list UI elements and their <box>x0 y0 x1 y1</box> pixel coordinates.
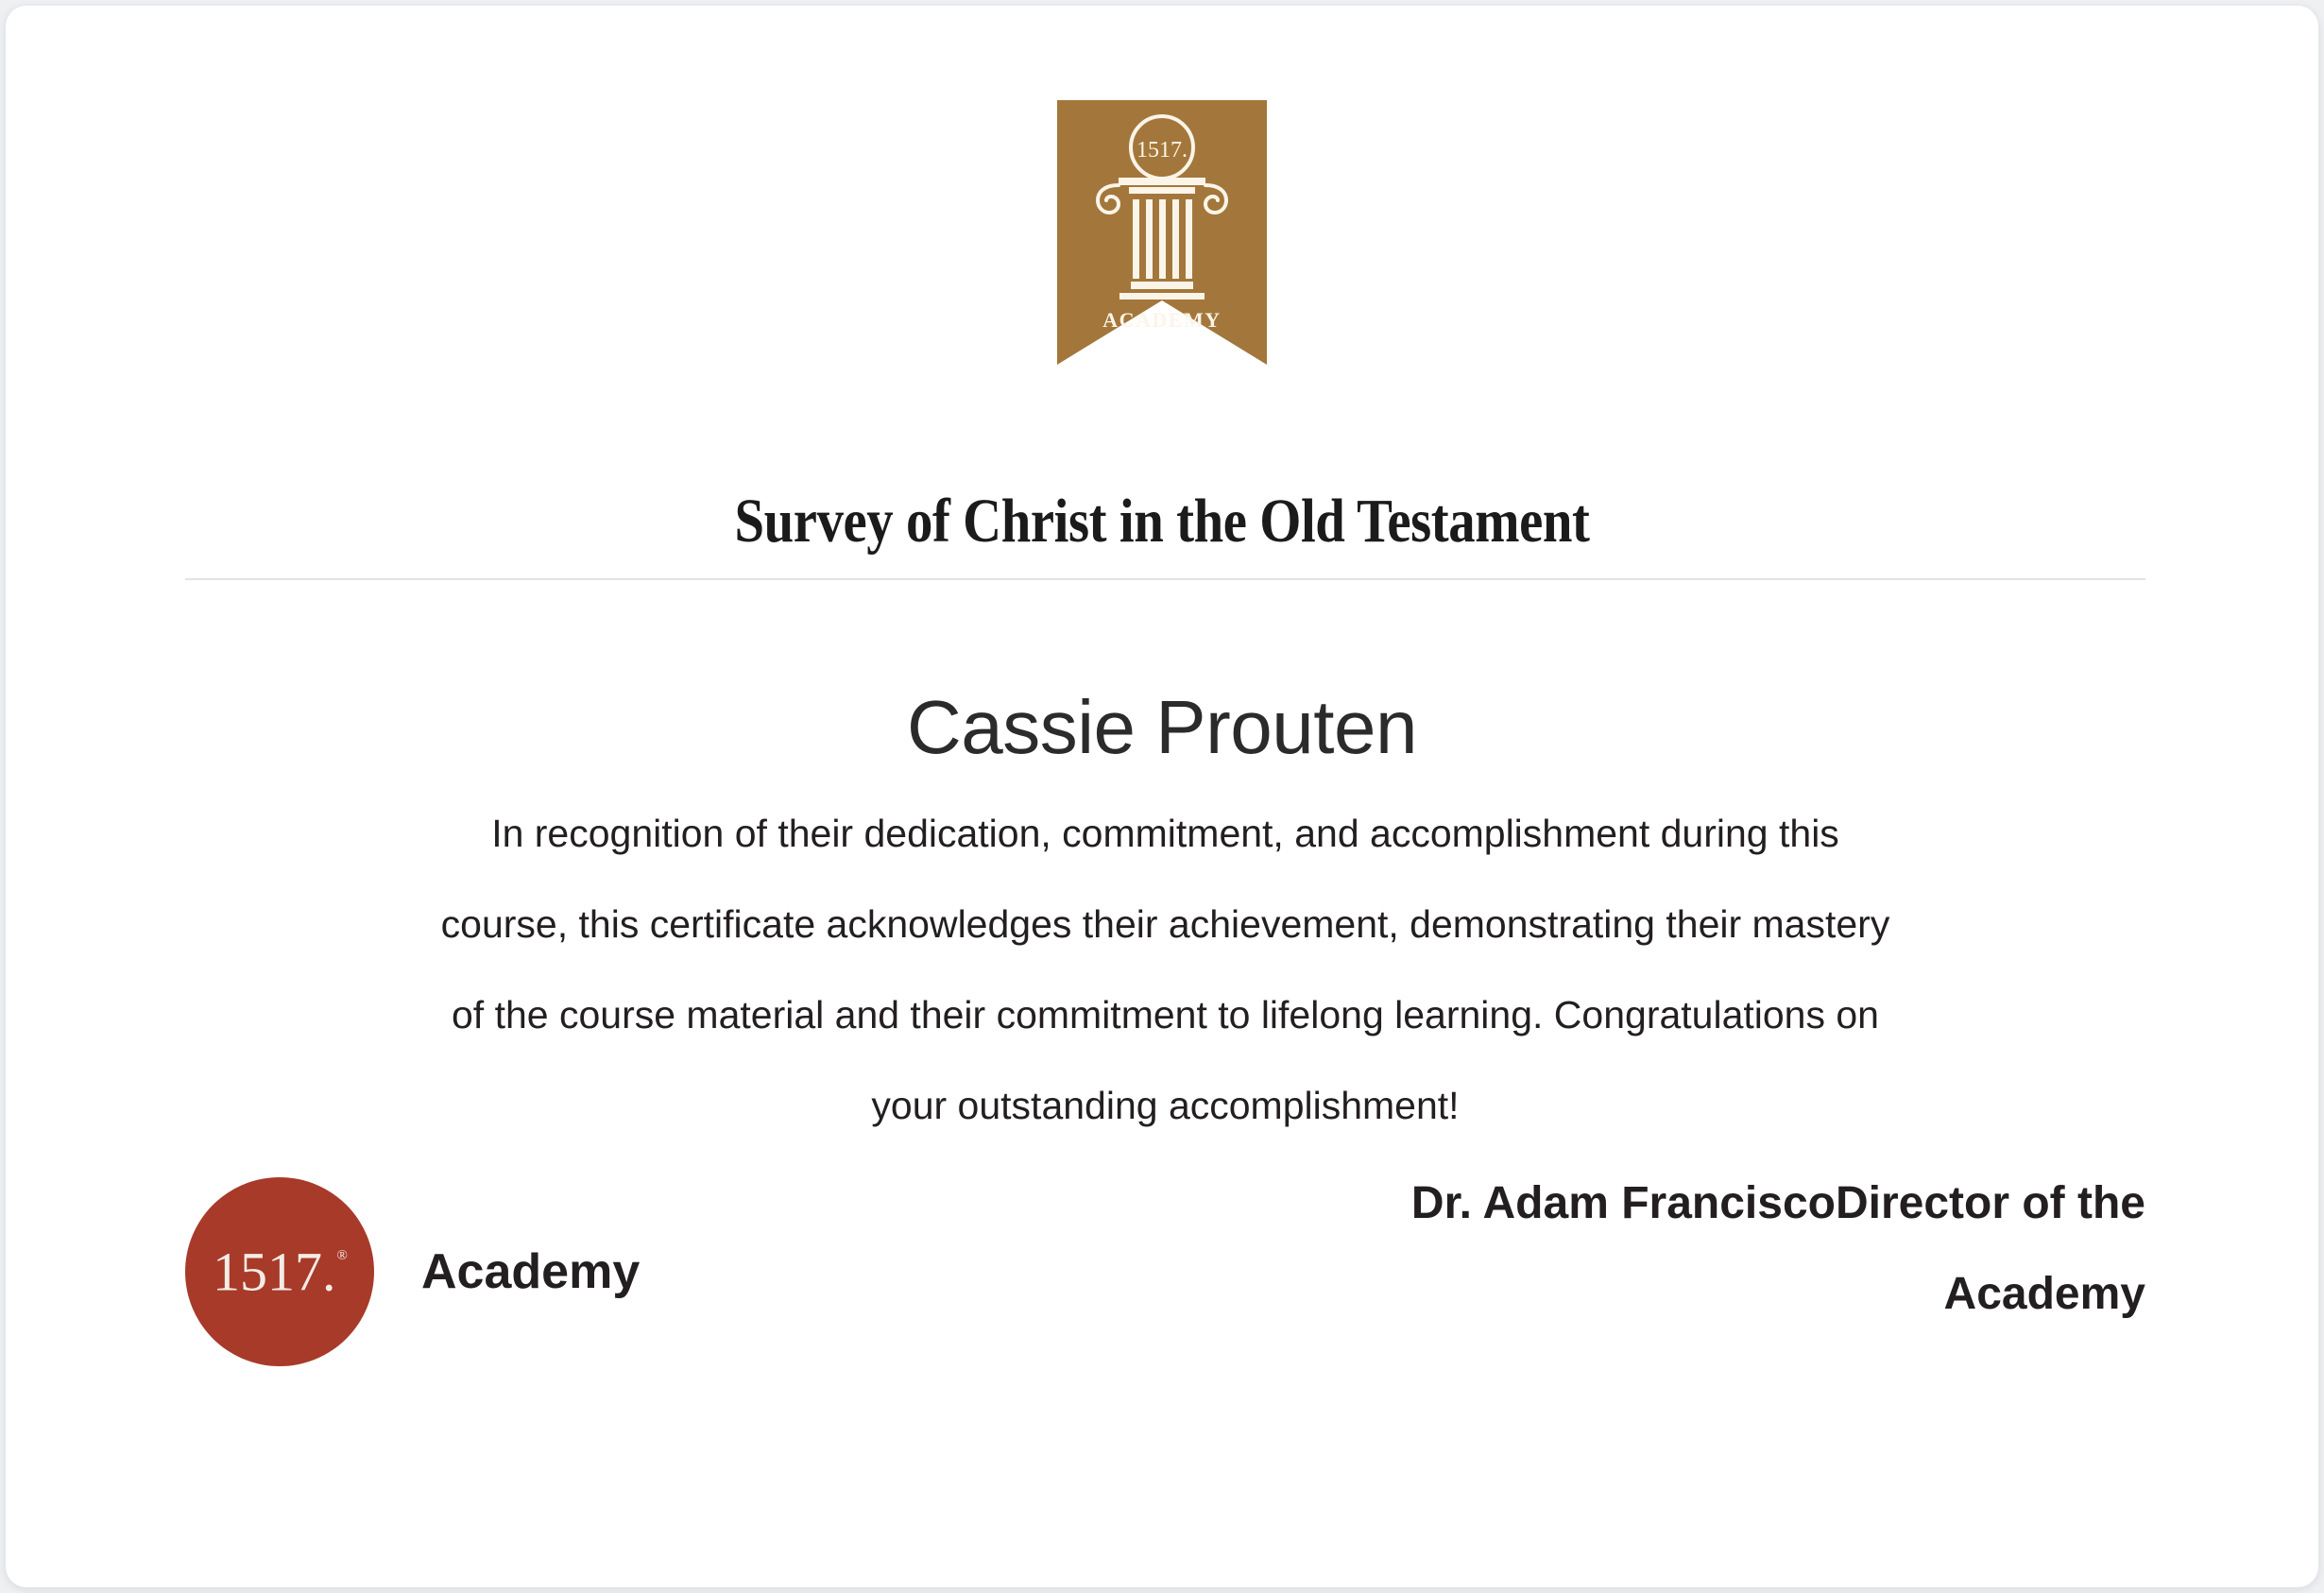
logo-banner-container: 1517. ACADEMY <box>6 100 2318 365</box>
course-title: Survey of Christ in the Old Testament <box>167 484 2156 559</box>
body-line: course, this certificate acknowledges th… <box>185 879 2145 969</box>
header-divider <box>185 578 2145 580</box>
svg-text:ACADEMY: ACADEMY <box>1102 308 1221 332</box>
1517-seal-badge-icon: 1517.® <box>185 1177 374 1366</box>
issuer-block: 1517.® Academy <box>185 1177 640 1366</box>
certificate-card: 1517. ACADEMY Surv <box>6 6 2318 1587</box>
seal-label: 1517.® <box>213 1240 347 1299</box>
registered-mark-icon: ® <box>337 1248 348 1263</box>
recipient-name: Cassie Prouten <box>6 680 2318 775</box>
body-line: In recognition of their dedication, comm… <box>185 788 2145 879</box>
body-line: your outstanding accomplishment! <box>185 1060 2145 1151</box>
body-line: of the course material and their commitm… <box>185 969 2145 1060</box>
academy-banner-logo-icon: 1517. ACADEMY <box>1057 100 1267 365</box>
signatory-name-and-title: Dr. Adam FranciscoDirector of the Academ… <box>1314 1158 2145 1340</box>
svg-text:1517.: 1517. <box>1136 138 1188 163</box>
issuer-name: Academy <box>421 1243 640 1300</box>
certificate-body-text: In recognition of their dedication, comm… <box>185 788 2145 1151</box>
certificate-footer: 1517.® Academy Dr. Adam FranciscoDirecto… <box>185 1158 2145 1366</box>
